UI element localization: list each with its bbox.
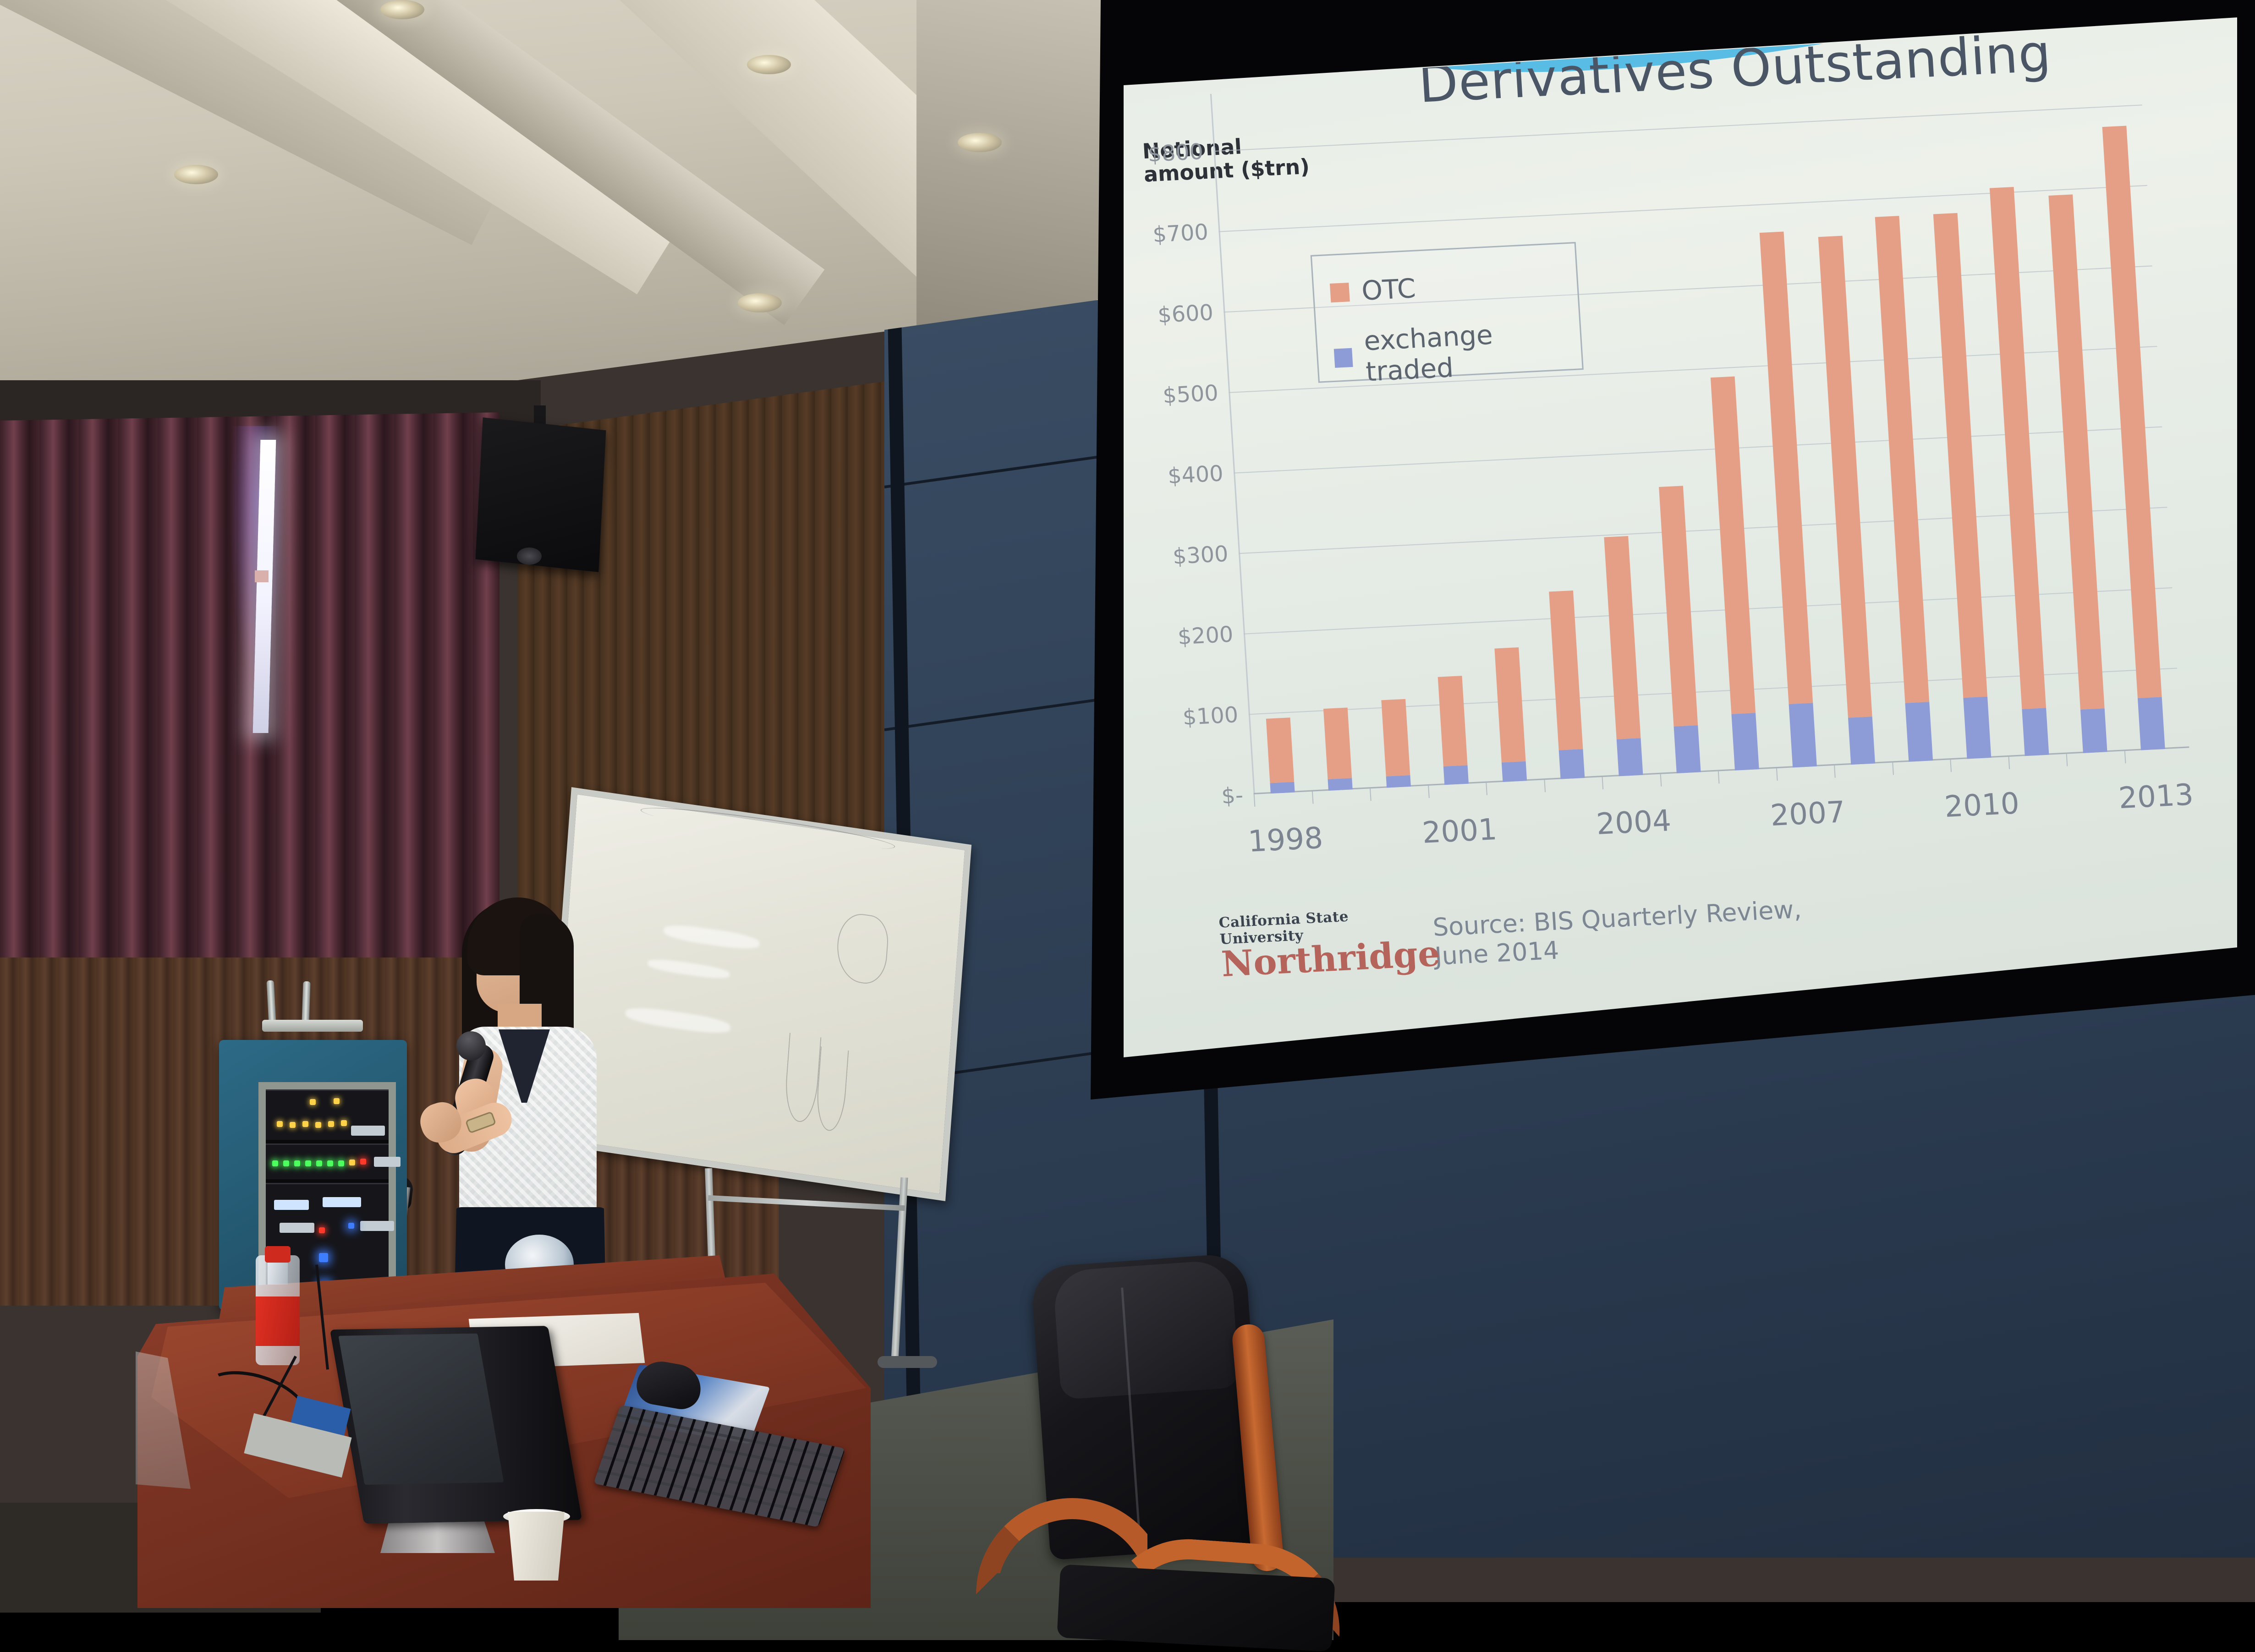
y-axis-tick-label: $100	[1182, 702, 1239, 730]
x-axis-tickmark	[1718, 771, 1720, 783]
chart-bar-segment-otc	[1549, 591, 1583, 750]
chart-bar-segment-otc	[1604, 536, 1641, 739]
x-axis-tick-label: 1998	[1247, 821, 1324, 859]
whiteboard-smudge	[663, 922, 760, 952]
x-axis-tick-label: 2007	[1769, 794, 1846, 833]
chart-bar	[1381, 699, 1411, 788]
x-axis-tickmark	[2124, 751, 2126, 763]
chart-bar-segment-otc	[1323, 707, 1352, 779]
legend-label-exchange-traded: exchange traded	[1363, 315, 1582, 388]
chart-bar	[1494, 647, 1527, 782]
chart-bar-segment-otc	[1659, 486, 1698, 727]
chart-bar-segment-exchange-traded	[2022, 708, 2049, 756]
x-axis-tick-label: 2004	[1595, 803, 1672, 842]
router-antenna-icon	[302, 981, 310, 1024]
x-axis-tickmark	[1602, 777, 1604, 789]
x-axis-tickmark	[1892, 763, 1894, 775]
y-axis-tick-label: $700	[1152, 219, 1209, 247]
chart-bar	[1710, 377, 1759, 771]
legend-item-exchange-traded: exchange traded	[1333, 315, 1583, 389]
ceiling-downlight-icon	[958, 133, 1002, 152]
chart-legend: OTC exchange traded	[1311, 242, 1584, 383]
chart-bar-segment-exchange-traded	[1789, 703, 1817, 767]
y-axis-tick-label: $600	[1157, 300, 1214, 328]
logo-main-line: Northridge	[1220, 938, 1426, 981]
x-axis-tick-label: 2013	[2118, 777, 2195, 815]
x-axis-tickmark	[1254, 794, 1256, 807]
chart-bar-segment-exchange-traded	[1328, 778, 1353, 791]
x-axis-tickmark	[1660, 774, 1662, 787]
legend-swatch-exchange-traded	[1334, 348, 1353, 368]
x-axis-tickmark	[1950, 760, 1952, 772]
office-chair[interactable]	[921, 1255, 1407, 1603]
x-axis-tickmark	[1311, 792, 1313, 804]
projected-slide: Derivatives Outstanding Notional amount …	[1124, 17, 2237, 1057]
chart-bar	[2048, 194, 2107, 753]
chair-seat	[1057, 1564, 1335, 1652]
chart-bar-segment-exchange-traded	[1674, 726, 1701, 773]
y-axis-tick-label: $800	[1147, 138, 1204, 167]
chart-bar	[2102, 126, 2166, 750]
whiteboard-marking	[835, 911, 890, 986]
x-axis-tick-label: 2010	[1943, 786, 2020, 824]
university-logo: California State University Northridge	[1218, 905, 1427, 981]
chart-bar	[1438, 676, 1469, 785]
chart-bar-segment-exchange-traded	[1616, 738, 1643, 776]
whiteboard-smudge	[647, 957, 730, 981]
ceiling-downlight-icon	[174, 165, 218, 184]
x-axis-tickmark	[1544, 780, 1546, 792]
window-fixture	[255, 570, 269, 582]
water-bottle	[256, 1228, 300, 1365]
chart-bar-segment-otc	[1710, 377, 1756, 714]
chart-bar-segment-exchange-traded	[1905, 702, 1933, 762]
chart-bar	[1549, 591, 1585, 779]
chart-plot-area: $-$100$200$300$400$500$600$700$800199820…	[1214, 104, 2182, 794]
x-axis-tick-label: 2001	[1421, 812, 1498, 850]
chart-bar-segment-otc	[2048, 194, 2105, 710]
chart-bar	[1875, 216, 1933, 762]
computer-monitor[interactable]	[330, 1326, 582, 1524]
y-axis-tick-label: $300	[1172, 541, 1229, 569]
y-axis-tick-label: $-	[1221, 782, 1244, 809]
chart-bar-segment-otc	[1818, 235, 1872, 718]
chart-bar-segment-otc	[1438, 676, 1468, 766]
speaker-cone-icon	[517, 547, 542, 565]
chart-bar-segment-exchange-traded	[1963, 696, 1991, 759]
paper-cup	[504, 1512, 568, 1581]
chart-bar-segment-exchange-traded	[1731, 713, 1759, 771]
whiteboard-marking	[815, 1046, 849, 1132]
whiteboard-crossbar	[708, 1195, 905, 1211]
y-axis-line	[1210, 94, 1255, 794]
ceiling-downlight-icon	[380, 0, 424, 19]
chart-bar	[1323, 707, 1353, 791]
rack-shelf	[266, 1089, 389, 1140]
legend-label-otc: OTC	[1361, 273, 1416, 306]
chart-bar-segment-otc	[1381, 699, 1410, 776]
chart-bar-segment-otc	[1875, 216, 1930, 703]
chair-headrest	[1053, 1259, 1240, 1400]
ceiling-downlight-icon	[747, 55, 791, 74]
chart-bar	[1266, 717, 1295, 793]
chart-bar-segment-exchange-traded	[1386, 775, 1411, 788]
y-axis-tick-label: $500	[1162, 380, 1219, 408]
chart-bar	[1933, 213, 1991, 759]
rack-switch	[266, 1143, 389, 1179]
chart-bar-segment-exchange-traded	[1270, 782, 1295, 793]
x-axis-tickmark	[1486, 783, 1487, 795]
monitor-screen	[338, 1334, 504, 1485]
equipment-rack	[219, 1040, 407, 1310]
chart-bar	[1659, 486, 1701, 773]
chart-bar-segment-otc	[1933, 213, 1987, 698]
chart-bar-segment-otc	[1266, 717, 1294, 783]
source-note: Source: BIS Quarterly Review, June 2014	[1432, 892, 1862, 972]
chart-bar-segment-exchange-traded	[1501, 761, 1527, 782]
x-axis-tickmark	[1370, 788, 1372, 801]
chart-bar	[1760, 231, 1817, 767]
chart-bar-segment-otc	[1494, 647, 1526, 763]
x-axis-tickmark	[1834, 766, 1836, 778]
y-axis-tick-label: $400	[1167, 460, 1224, 489]
lecture-hall-scene: Derivatives Outstanding Notional amount …	[0, 0, 2255, 1602]
whiteboard-marking	[783, 1033, 821, 1124]
chart-bar-segment-otc	[1990, 187, 2047, 710]
legend-swatch-otc	[1330, 282, 1350, 302]
y-axis-tick-label: $200	[1177, 621, 1234, 650]
chart-bar-segment-exchange-traded	[1848, 717, 1875, 765]
chart-bar	[1604, 536, 1643, 776]
wall-speaker	[475, 417, 606, 572]
chart-bar-segment-exchange-traded	[2138, 697, 2165, 750]
x-axis-tickmark	[2008, 757, 2010, 769]
ceiling-downlight-icon	[738, 293, 782, 312]
chart-bar-segment-otc	[1760, 231, 1813, 704]
chart-bar-segment-exchange-traded	[1443, 765, 1469, 785]
chart-bar-segment-exchange-traded	[2080, 708, 2107, 753]
chart-bar-segment-exchange-traded	[1559, 749, 1585, 779]
x-axis-tickmark	[1776, 768, 1778, 781]
wireless-router	[262, 1020, 363, 1032]
legend-item-otc: OTC	[1329, 273, 1416, 308]
x-axis-tickmark	[1428, 786, 1430, 798]
x-axis-tickmark	[2066, 754, 2068, 766]
